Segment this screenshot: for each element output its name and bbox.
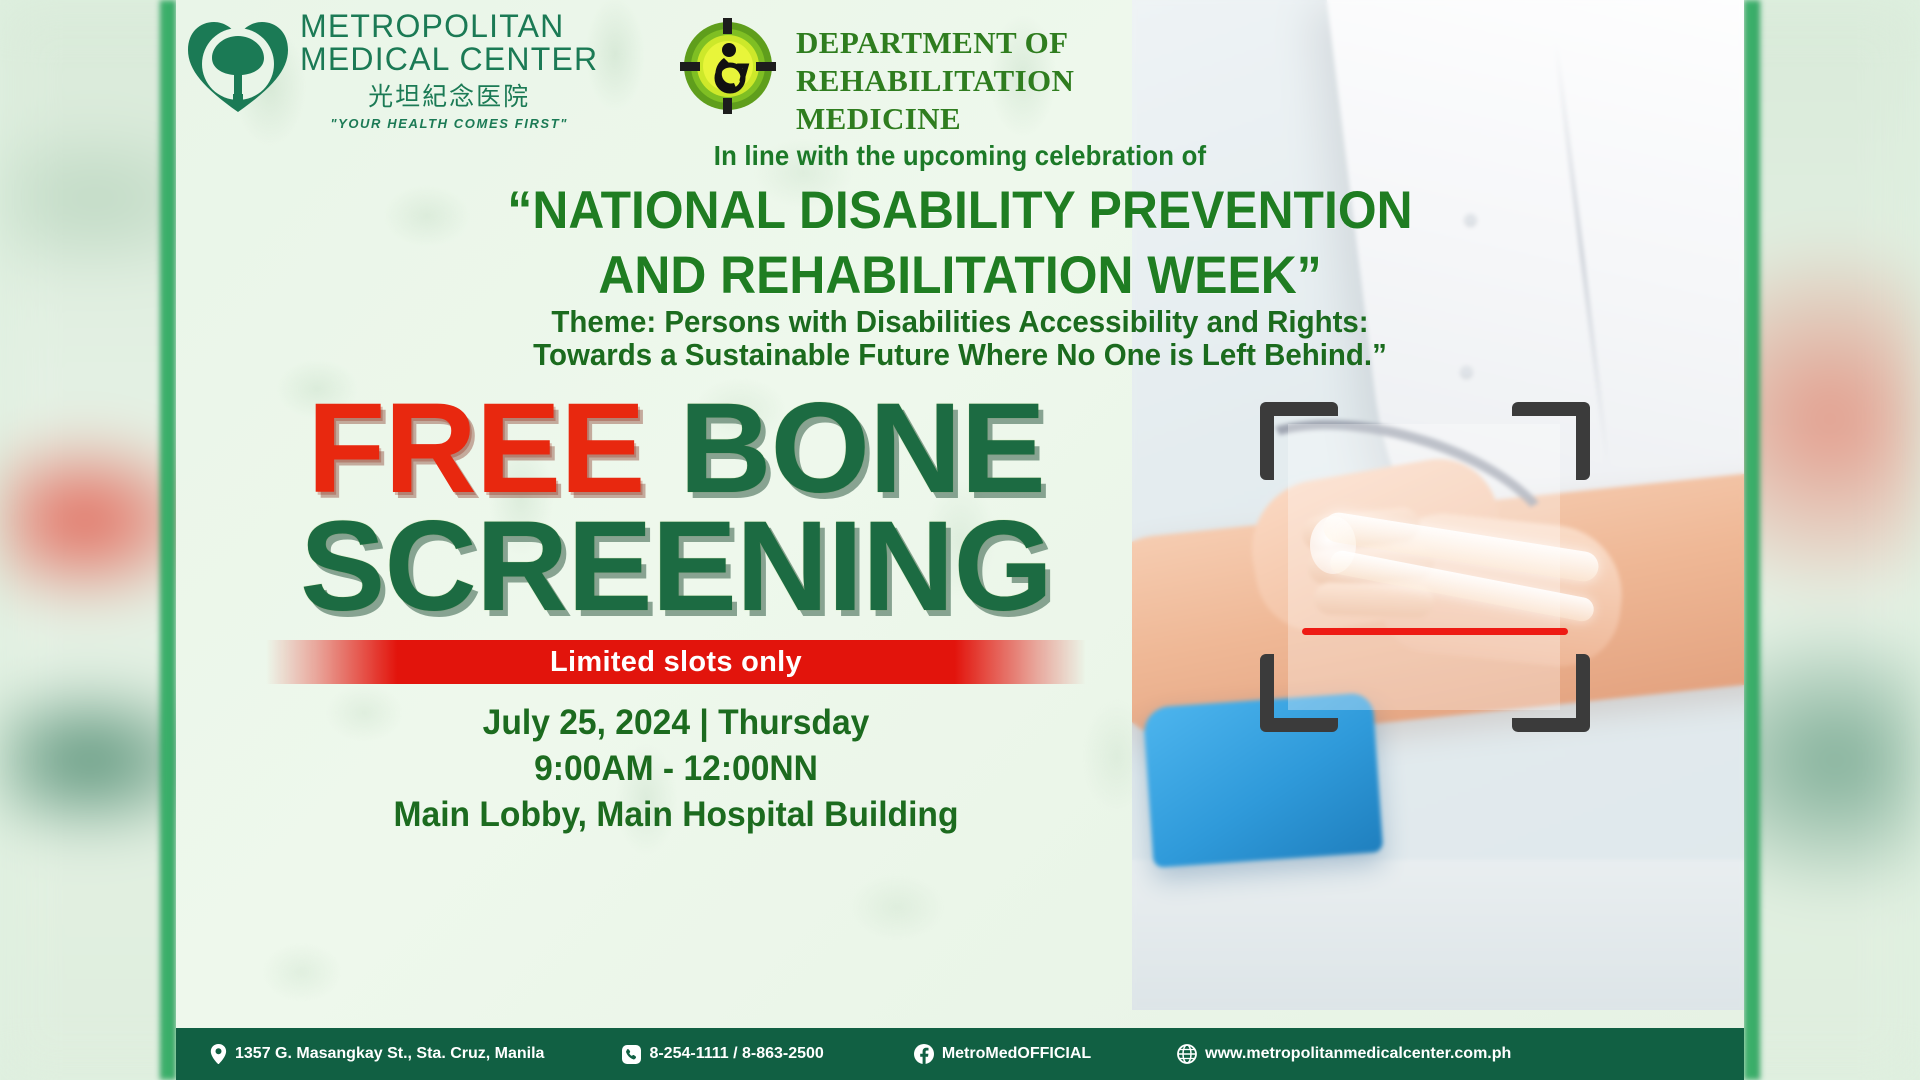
hospital-name-line2: MEDICAL CENTER	[300, 43, 598, 76]
theme-line2: Towards a Sustainable Future Where No On…	[215, 338, 1705, 373]
contact-footer: 1357 G. Masangkay St., Sta. Cruz, Manila…	[176, 1028, 1744, 1080]
scan-line	[1302, 628, 1568, 635]
hero-line2: SCREENING	[176, 503, 1176, 631]
location-pin-icon	[210, 1044, 227, 1064]
occasion-line1: “NATIONAL DISABILITY PREVENTION	[223, 180, 1697, 241]
event-time: 9:00AM - 12:00NN	[196, 746, 1156, 792]
intro-text: In line with the upcoming celebration of	[239, 140, 1682, 172]
department-line2: REHABILITATION MEDICINE	[796, 62, 1236, 138]
poster-canvas: METROPOLITAN MEDICAL CENTER 光坦紀念医院 "YOUR…	[176, 0, 1744, 1080]
globe-icon	[1177, 1044, 1197, 1064]
limited-slots-label: Limited slots only	[550, 646, 802, 679]
department-line1: DEPARTMENT OF	[796, 24, 1236, 62]
phone-text: 8-254-1111 / 8-863-2500	[649, 1045, 823, 1063]
hospital-wordmark: METROPOLITAN MEDICAL CENTER 光坦紀念医院 "YOUR…	[300, 10, 598, 131]
left-accent-bar	[160, 0, 176, 1080]
hero-word-screening: SCREENING	[300, 495, 1052, 638]
facebook-icon	[914, 1044, 934, 1064]
hospital-name-chinese: 光坦紀念医院	[300, 77, 598, 113]
hero-line1: FREE BONE	[176, 385, 1176, 513]
theme-line1: Theme: Persons with Disabilities Accessi…	[215, 305, 1705, 340]
heart-tree-logo-icon	[184, 14, 294, 114]
limited-slots-banner: Limited slots only	[266, 640, 1086, 684]
scanner-corner-top-left-icon	[1260, 402, 1338, 480]
heart-tree-svg	[184, 18, 292, 114]
poster-header: METROPOLITAN MEDICAL CENTER 光坦紀念医院 "YOUR…	[176, 8, 1236, 118]
footer-phone: 8-254-1111 / 8-863-2500	[622, 1045, 823, 1064]
hospital-name-line1: METROPOLITAN	[300, 10, 598, 43]
footer-address: 1357 G. Masangkay St., Sta. Cruz, Manila	[210, 1044, 544, 1064]
hospital-tagline: "YOUR HEALTH COMES FIRST"	[300, 116, 598, 131]
department-title: DEPARTMENT OF REHABILITATION MEDICINE	[796, 24, 1236, 137]
rehabilitation-medicine-seal-icon	[680, 18, 776, 114]
bone-scanner-frame-icon	[1260, 402, 1590, 732]
event-details: July 25, 2024 | Thursday 9:00AM - 12:00N…	[176, 700, 1176, 839]
occasion-line2: AND REHABILITATION WEEK”	[223, 245, 1697, 306]
scanner-corner-top-right-icon	[1512, 402, 1590, 480]
footer-website: www.metropolitanmedicalcenter.com.ph	[1177, 1044, 1511, 1064]
poster-root: METROPOLITAN MEDICAL CENTER 光坦紀念医院 "YOUR…	[0, 0, 1920, 1080]
right-accent-bar	[1744, 0, 1760, 1080]
event-venue: Main Lobby, Main Hospital Building	[196, 792, 1156, 838]
address-text: 1357 G. Masangkay St., Sta. Cruz, Manila	[235, 1045, 544, 1063]
facebook-text: MetroMedOFFICIAL	[942, 1045, 1091, 1063]
hero-headline: FREE BONE SCREENING	[176, 385, 1176, 625]
footer-facebook: MetroMedOFFICIAL	[914, 1044, 1091, 1064]
website-text: www.metropolitanmedicalcenter.com.ph	[1205, 1045, 1511, 1063]
scanner-corner-bottom-right-icon	[1512, 654, 1590, 732]
phone-icon	[622, 1045, 641, 1064]
scanner-corner-bottom-left-icon	[1260, 654, 1338, 732]
event-date: July 25, 2024 | Thursday	[196, 700, 1156, 746]
